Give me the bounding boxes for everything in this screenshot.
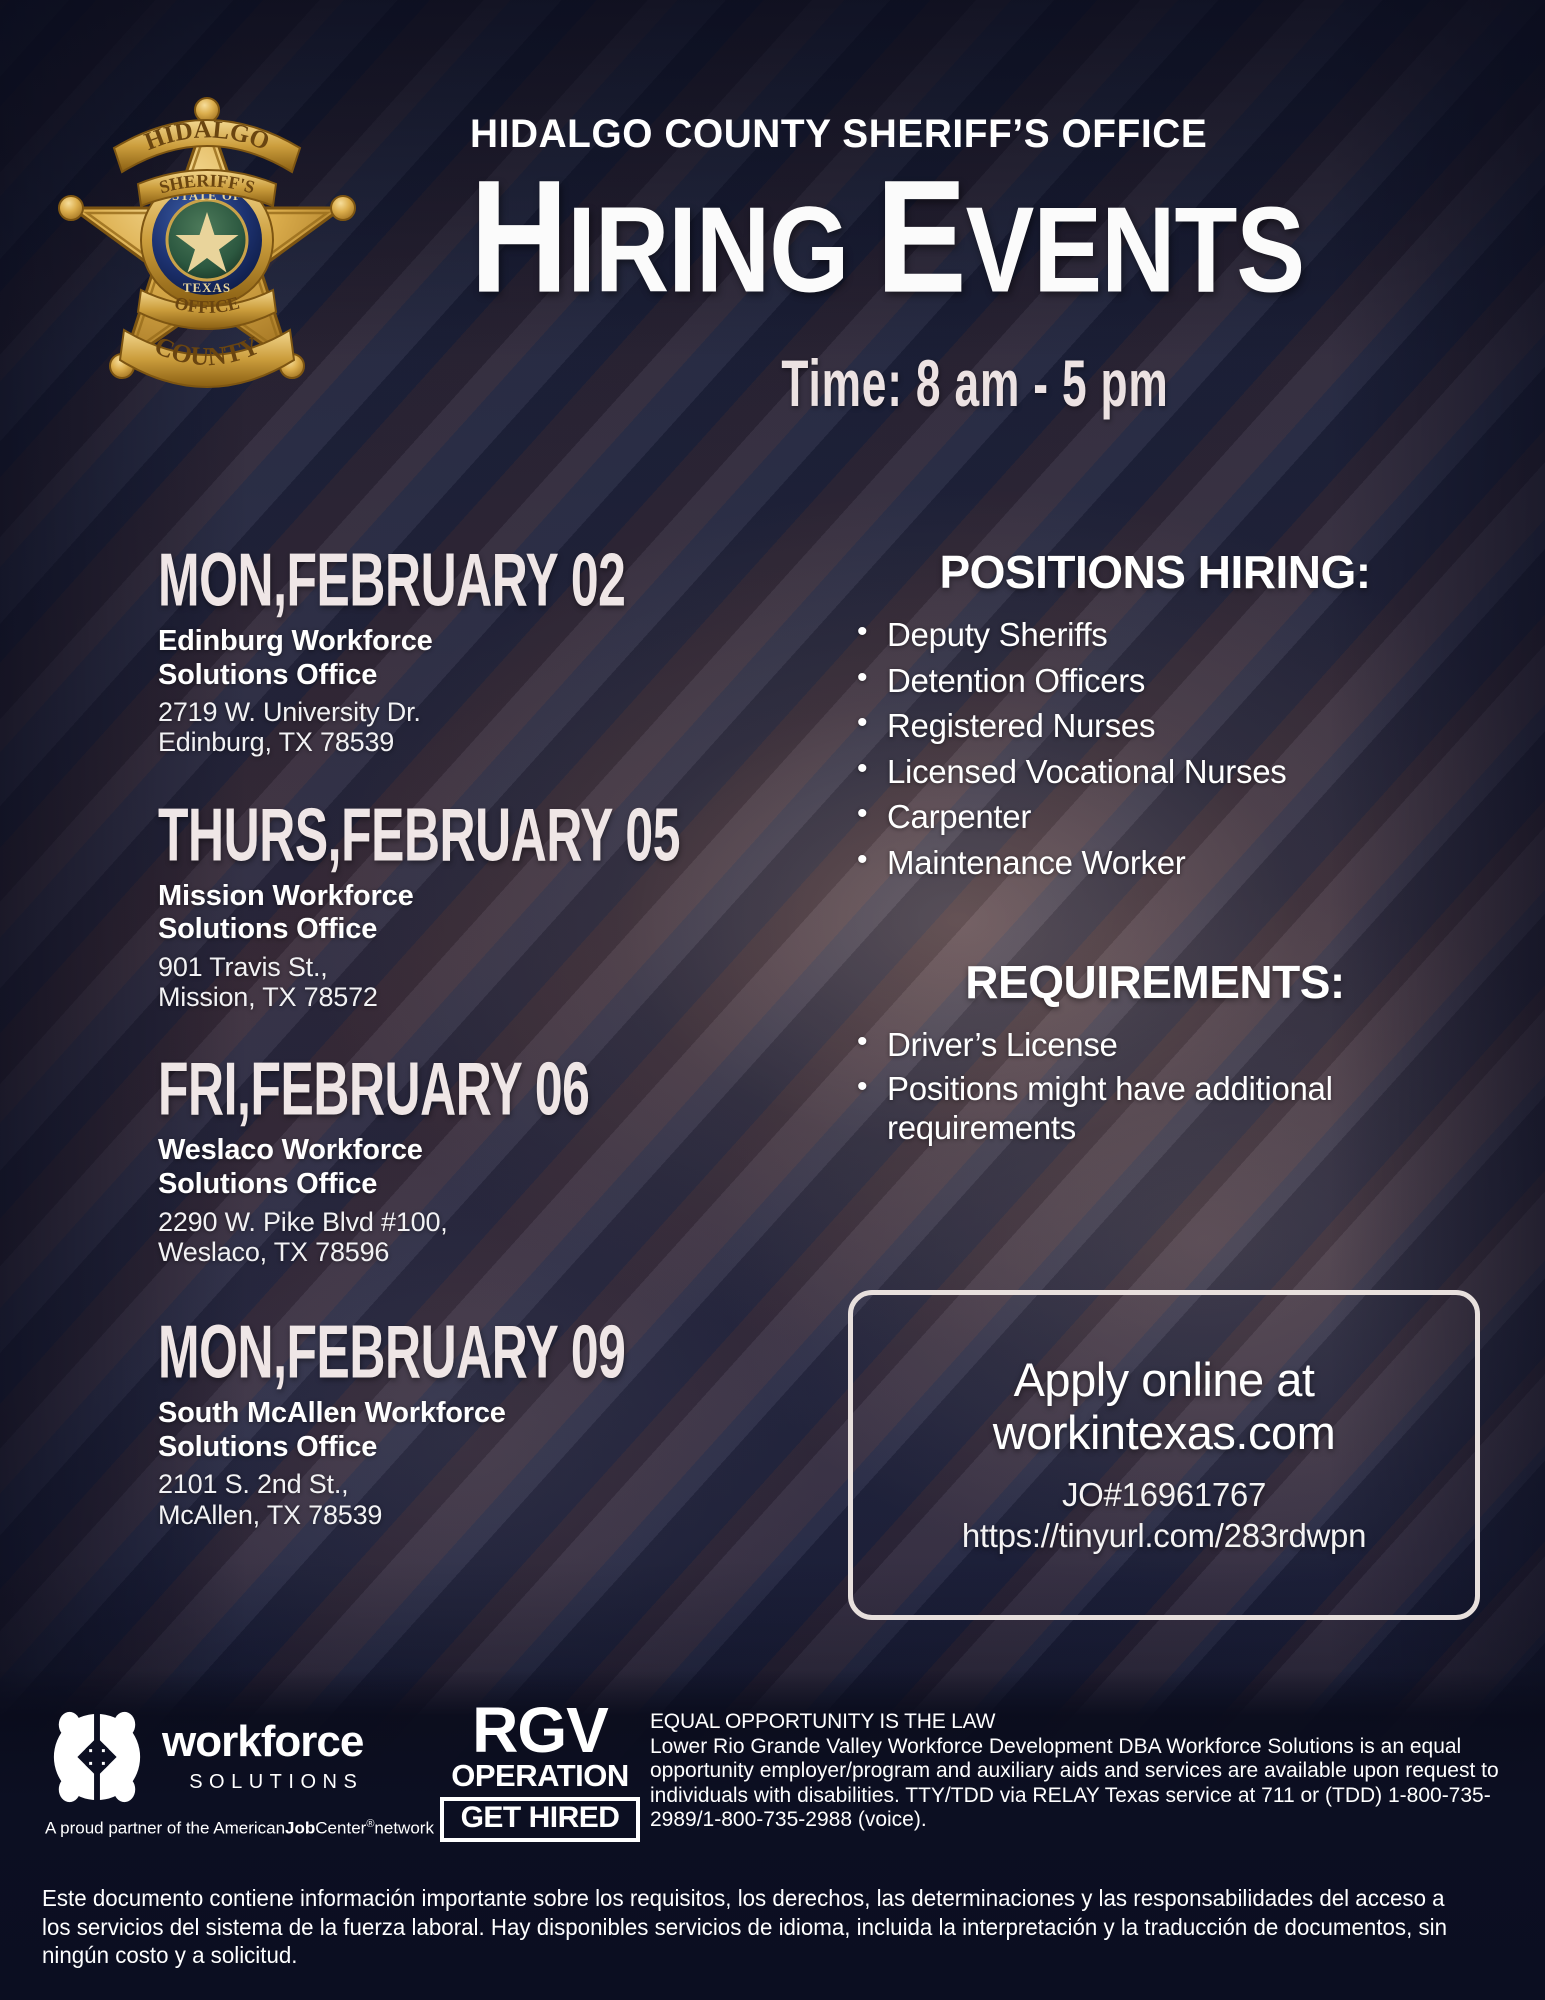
event-time: Time: 8 am - 5 pm <box>561 346 1389 422</box>
event-address-line2: Mission, TX 78572 <box>158 982 778 1012</box>
list-item: Positions might have additional requirem… <box>887 1070 1465 1148</box>
event-office-line2: Solutions Office <box>158 1168 778 1202</box>
workforce-solutions-mark-icon <box>48 1708 146 1806</box>
event-address-line1: 2101 S. 2nd St., <box>158 1469 778 1499</box>
get-hired-badge: GET HIRED <box>440 1797 640 1842</box>
event-office-name: Weslaco Workforce Solutions Office <box>158 1134 778 1201</box>
event-item: THURS,FEBRUARY 05 Mission Workforce Solu… <box>158 798 778 1013</box>
event-address: 2101 S. 2nd St., McAllen, TX 78539 <box>158 1469 778 1529</box>
sheriff-star-badge-icon: STATE OF TEXAS HIDALGO SHERIFF'S <box>42 80 372 410</box>
list-item: Maintenance Worker <box>887 843 1465 883</box>
rgv-word: RGV <box>440 1702 640 1760</box>
list-item: Licensed Vocational Nurses <box>887 752 1465 792</box>
title-cap-e: E <box>876 146 966 325</box>
requirements-list: Driver’s License Positions might have ad… <box>845 1025 1465 1148</box>
equal-opportunity-heading: EQUAL OPPORTUNITY IS THE LAW <box>650 1710 1510 1735</box>
list-item: Registered Nurses <box>887 706 1465 746</box>
event-office-line2: Solutions Office <box>158 659 778 693</box>
job-order-number: JO#16961767 <box>1062 1475 1266 1515</box>
positions-heading: POSITIONS HIRING: <box>845 545 1465 599</box>
event-address: 901 Travis St., Mission, TX 78572 <box>158 952 778 1012</box>
event-address: 2719 W. University Dr. Edinburg, TX 7853… <box>158 697 778 757</box>
page-title: HIRING EVENTS <box>470 163 1480 311</box>
event-address-line1: 2719 W. University Dr. <box>158 697 778 727</box>
operation-word: OPERATION <box>440 1760 640 1793</box>
event-date: FRI,FEBRUARY 06 <box>158 1052 691 1127</box>
requirements-heading: REQUIREMENTS: <box>845 955 1465 1009</box>
event-address-line2: Edinburg, TX 78539 <box>158 727 778 757</box>
spanish-language-notice: Este documento contiene información impo… <box>42 1884 1463 1970</box>
solutions-word: SOLUTIONS <box>162 1771 363 1794</box>
title-cap-h: H <box>470 146 567 325</box>
american-job-center-partner-line: A proud partner of the AmericanJobCenter… <box>45 1818 434 1839</box>
workforce-solutions-logo: workforce SOLUTIONS <box>48 1708 363 1806</box>
footer: workforce SOLUTIONS A proud partner of t… <box>0 1670 1545 2000</box>
apply-online-heading: Apply online at workintexas.com <box>993 1354 1336 1459</box>
event-office-line1: Edinburg Workforce <box>158 625 778 659</box>
event-address: 2290 W. Pike Blvd #100, Weslaco, TX 7859… <box>158 1207 778 1267</box>
apply-line-2: workintexas.com <box>993 1407 1336 1460</box>
partner-prefix: A proud partner of the <box>45 1819 213 1838</box>
event-address-line2: Weslaco, TX 78596 <box>158 1237 778 1267</box>
partner-network: network <box>374 1819 434 1838</box>
requirements-section: REQUIREMENTS: Driver’s License Positions… <box>845 955 1465 1148</box>
event-office-line1: Weslaco Workforce <box>158 1134 778 1168</box>
event-office-name: South McAllen Workforce Solutions Office <box>158 1397 778 1464</box>
equal-opportunity-body: Lower Rio Grande Valley Workforce Develo… <box>650 1735 1510 1833</box>
workforce-solutions-wordmark: workforce SOLUTIONS <box>162 1720 363 1794</box>
event-address-line1: 901 Travis St., <box>158 952 778 982</box>
rgv-operation-get-hired-logo: RGV OPERATION GET HIRED <box>440 1702 640 1842</box>
list-item: Deputy Sheriffs <box>887 615 1465 655</box>
event-item: FRI,FEBRUARY 06 Weslaco Workforce Soluti… <box>158 1052 778 1267</box>
partner-center: Center <box>315 1819 366 1838</box>
equal-opportunity-notice: EQUAL OPPORTUNITY IS THE LAW Lower Rio G… <box>650 1710 1510 1833</box>
event-date: THURS,FEBRUARY 05 <box>158 798 691 873</box>
partner-american: American <box>213 1819 285 1838</box>
badge-texas-text: TEXAS <box>183 280 231 295</box>
event-office-name: Mission Workforce Solutions Office <box>158 880 778 947</box>
positions-section: POSITIONS HIRING: Deputy Sheriffs Detent… <box>845 545 1465 883</box>
title-rest-iring: IRING <box>567 182 876 318</box>
apply-line-1: Apply online at <box>993 1354 1336 1407</box>
flyer-poster: STATE OF TEXAS HIDALGO SHERIFF'S <box>0 0 1545 2000</box>
event-office-line1: Mission Workforce <box>158 880 778 914</box>
positions-list: Deputy Sheriffs Detention Officers Regis… <box>845 615 1465 883</box>
events-column: MON,FEBRUARY 02 Edinburg Workforce Solut… <box>158 543 778 1570</box>
positions-requirements-column: POSITIONS HIRING: Deputy Sheriffs Detent… <box>845 545 1465 1154</box>
event-office-line2: Solutions Office <box>158 1431 778 1465</box>
event-office-line2: Solutions Office <box>158 913 778 947</box>
list-item: Carpenter <box>887 797 1465 837</box>
event-date: MON,FEBRUARY 09 <box>158 1315 691 1390</box>
event-office-name: Edinburg Workforce Solutions Office <box>158 625 778 692</box>
header-text-block: HIDALGO COUNTY SHERIFF’S OFFICE HIRING E… <box>470 112 1480 408</box>
partner-job: Job <box>285 1819 315 1838</box>
event-date: MON,FEBRUARY 02 <box>158 543 691 618</box>
event-item: MON,FEBRUARY 09 South McAllen Workforce … <box>158 1315 778 1530</box>
title-rest-vents: VENTS <box>966 182 1304 318</box>
event-address-line2: McAllen, TX 78539 <box>158 1500 778 1530</box>
event-item: MON,FEBRUARY 02 Edinburg Workforce Solut… <box>158 543 778 758</box>
apply-online-callout: Apply online at workintexas.com JO#16961… <box>848 1290 1480 1620</box>
list-item: Detention Officers <box>887 661 1465 701</box>
list-item: Driver’s License <box>887 1025 1465 1065</box>
event-office-line1: South McAllen Workforce <box>158 1397 778 1431</box>
workforce-word: workforce <box>162 1720 363 1764</box>
event-address-line1: 2290 W. Pike Blvd #100, <box>158 1207 778 1237</box>
apply-url-link[interactable]: https://tinyurl.com/283rdwpn <box>962 1515 1366 1556</box>
header: STATE OF TEXAS HIDALGO SHERIFF'S <box>0 60 1545 430</box>
